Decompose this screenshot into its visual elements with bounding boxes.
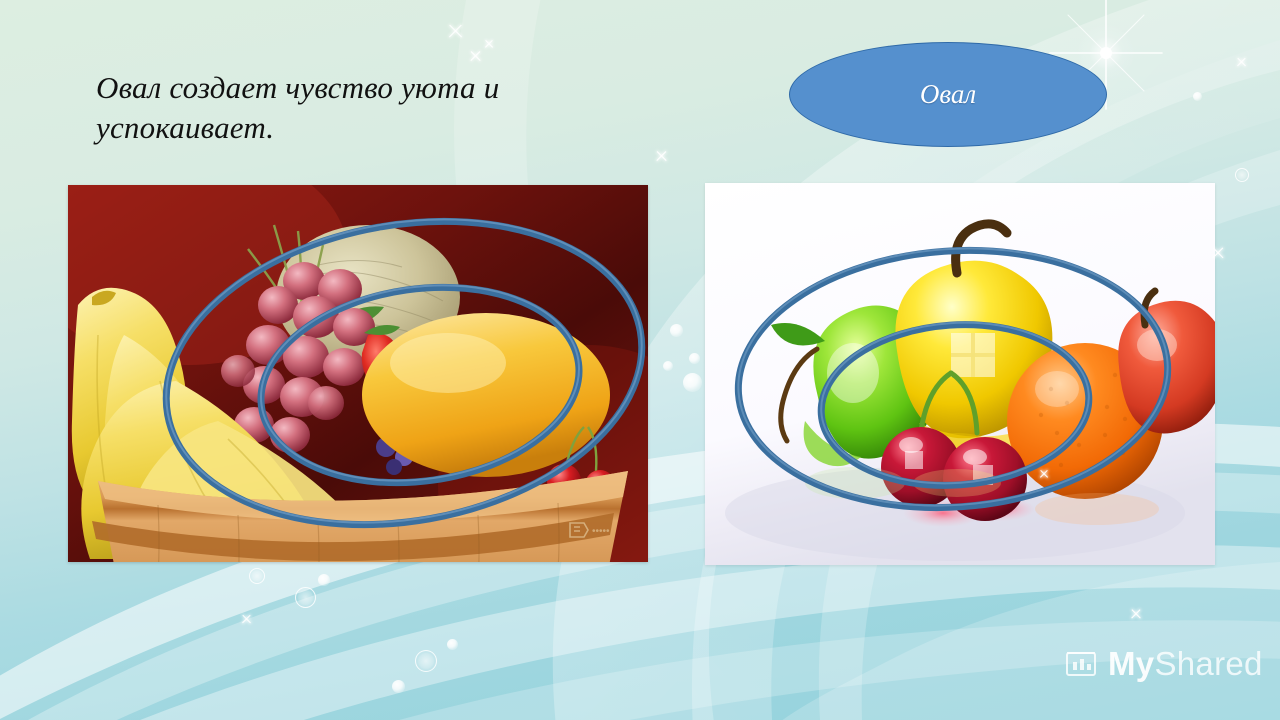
oval-label-text: Овал [789,42,1107,147]
bubble-decoration [447,639,458,650]
bubble-decoration [670,324,683,337]
bubble-decoration [249,568,265,584]
watermark-suffix: Shared [1154,645,1262,682]
myshared-watermark-text: MyShared [1108,645,1263,683]
sparkle-icon [443,18,467,42]
glass-fruit-photo[interactable] [705,183,1215,565]
oval-label-shape[interactable]: Овал [789,42,1107,147]
bubble-decoration [689,353,700,364]
fruit-basket-photo[interactable]: ••••• [68,185,648,562]
slide-canvas: Овал создает чувство уюта и успокаивает.… [0,0,1280,720]
sparkle-icon [1234,54,1250,70]
myshared-watermark: MyShared [1063,645,1263,683]
sparkle-icon [652,146,670,164]
bubble-decoration [415,650,437,672]
watermark-prefix: My [1108,645,1154,682]
oval-overlay-right [705,183,1215,565]
bubble-decoration [1193,92,1202,101]
bubble-decoration [1235,168,1249,182]
bubble-decoration [295,587,316,608]
sparkle-icon [239,611,255,627]
bubble-decoration [318,574,330,586]
bubble-decoration [683,373,702,392]
sparkle-icon [1128,606,1145,623]
sparkle-icon [482,37,496,51]
sparkle-icon [466,46,484,64]
oval-overlay-left [68,185,648,562]
presentation-chart-icon [1063,646,1099,682]
slide-heading: Овал создает чувство уюта и успокаивает. [96,68,636,149]
bubble-decoration [663,361,673,371]
bubble-decoration [392,680,405,693]
